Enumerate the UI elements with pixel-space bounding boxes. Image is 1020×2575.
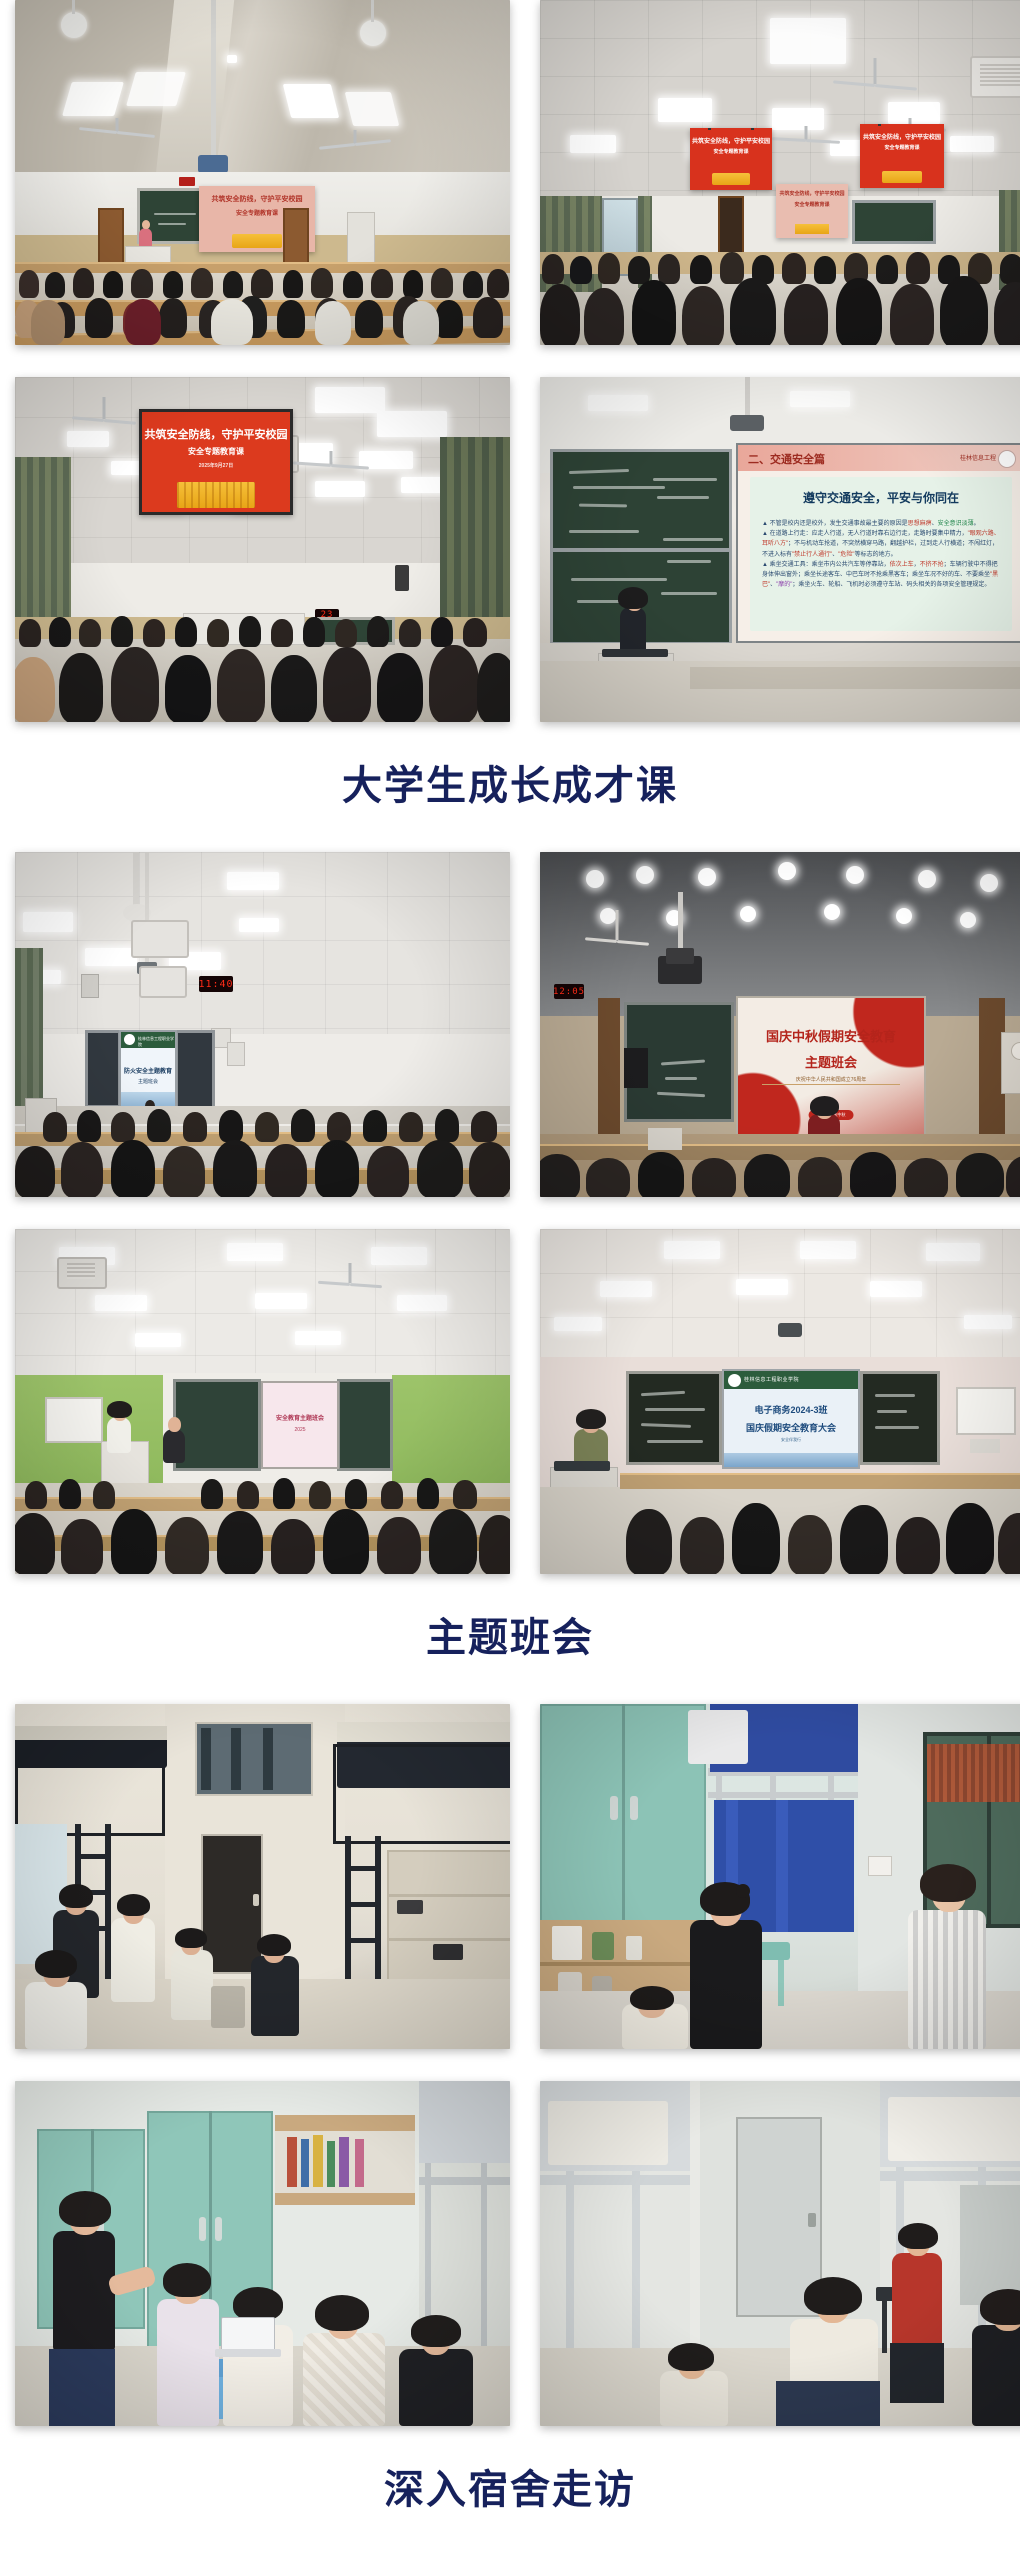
slide-meeting-title: 国庆假期安全教育大会 (724, 1421, 858, 1434)
section-theme-class-meeting: 11:40 桂林信息工程职业学院 防火安全主题教育 (0, 852, 1020, 1704)
photo-classroom-national-day: 12:05 国庆中秋假期安全教 (540, 852, 1020, 1197)
photo-dorm-chat (540, 2081, 1020, 2426)
slide-title-national-day: 国庆中秋假期安全教育 (738, 1026, 924, 1045)
section-caption-1: 大学生成长成才课 (0, 766, 1020, 806)
photo-dorm-visit-laptop (15, 2081, 510, 2426)
section-caption-3: 深入宿舍走访 (0, 2470, 1020, 2510)
photo-classroom-ecommerce: 桂林信息工程职业学院 电子商务2024-3班 国庆假期安全教育大会 安全伴我行 (540, 1229, 1020, 1574)
classroom-clock: 11:40 (199, 976, 233, 992)
photo-classroom-meeting-clock: 11:40 桂林信息工程职业学院 防火安全主题教育 (15, 852, 510, 1197)
slide-class-name: 电子商务2024-3班 (724, 1403, 858, 1416)
caption-wrap-1: 大学生成长成才课 (0, 722, 1020, 852)
photo-classroom-green-wall: 安全教育主题班会 2025 (15, 1229, 510, 1574)
photo-grid-3 (0, 1704, 1020, 2426)
photo-lecture-hall-red-screen: 共筑安全防线，守护平安校园 安全专题教育课 2025年9月27日 23 (15, 377, 510, 722)
section-caption-2: 主题班会 (0, 1618, 1020, 1658)
caption-wrap-3: 深入宿舍走访 (0, 2426, 1020, 2556)
caption-wrap-2: 主题班会 (0, 1574, 1020, 1704)
classroom-clock-2: 12:05 (554, 984, 584, 999)
photo-lecture-hall-wide: 共筑安全防线，守护平安校园 安全专题教育课 (15, 0, 510, 345)
slide-header-text: 二、交通安全篇 (748, 451, 825, 467)
photo-dorm-female (540, 1704, 1020, 2049)
photo-dorm-male (15, 1704, 510, 2049)
photo-grid-1: 共筑安全防线，守护平安校园 安全专题教育课 (0, 0, 1020, 722)
slide-title-text: 遵守交通安全，平安与你同在 (738, 489, 1020, 506)
photo-classroom-traffic-safety: 二、交通安全篇 桂林信息工程 遵守交通安全，平安与你同在 ▲ 不管是校内还是校外… (540, 377, 1020, 722)
section-dorm-visits: 深入宿舍走访 (0, 1704, 1020, 2556)
photo-lecture-hall-two-screens: 共筑安全防线，守护平安校园 安全专题教育课 共筑安全防线，守护平安校园 安全专题… (540, 0, 1020, 345)
photo-grid-2: 11:40 桂林信息工程职业学院 防火安全主题教育 (0, 852, 1020, 1574)
photo-collage-page: 共筑安全防线，守护平安校园 安全专题教育课 (0, 0, 1020, 2575)
section-college-growth-course: 共筑安全防线，守护平安校园 安全专题教育课 (0, 0, 1020, 852)
